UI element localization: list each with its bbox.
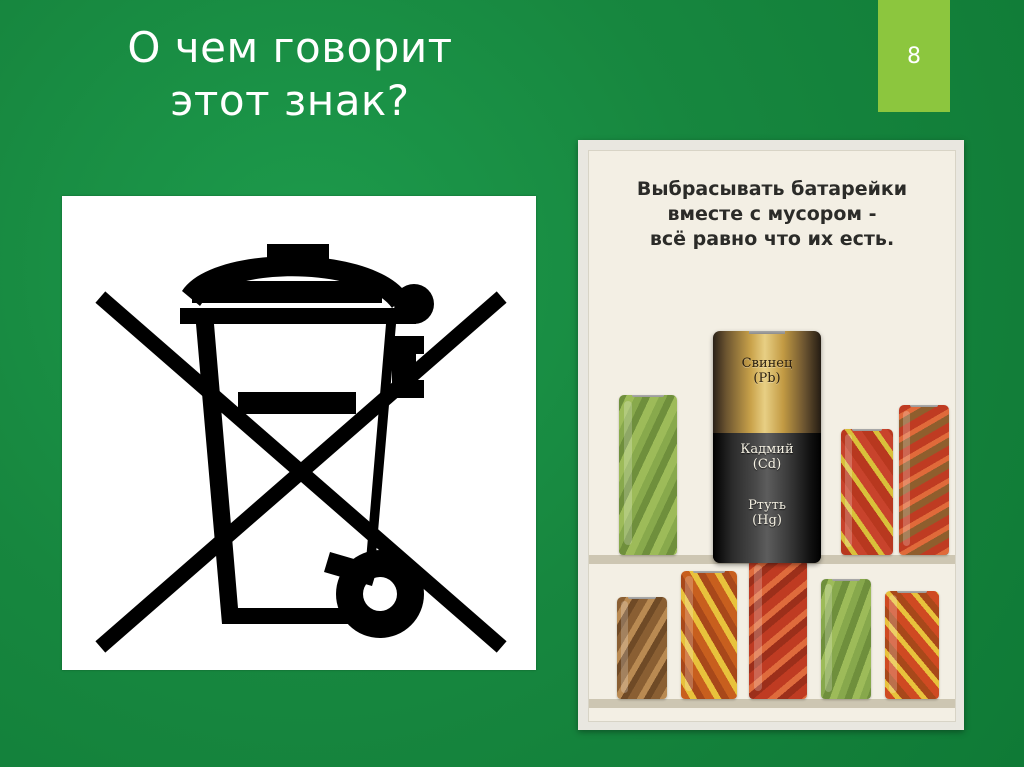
jar-mixed-vegetables-right2 (899, 405, 949, 555)
label-symbol: (Hg) (752, 513, 782, 528)
label-name: Кадмий (740, 442, 793, 457)
jar-lid (897, 591, 927, 593)
label-symbol: (Cd) (753, 457, 781, 472)
battery-label-cadmium: Кадмий (Cd) (713, 443, 821, 473)
jar-lid (832, 579, 860, 581)
jar-mushrooms-bottom-1 (617, 597, 667, 699)
jar-peppers-bottom-2 (681, 571, 737, 699)
label-name: Ртуть (748, 498, 786, 513)
page-title: О чем говорит этот знак? (40, 22, 540, 127)
jar-shine (889, 595, 897, 692)
jar-tomatoes-bottom-3 (749, 559, 807, 699)
jar-lid (632, 395, 664, 397)
weee-symbol-panel (62, 196, 536, 670)
jar-shine (754, 565, 762, 691)
jar-lid (693, 571, 724, 573)
battery-illustration: Свинец (Pb) Кадмий (Cd) Ртуть (Hg) (713, 331, 821, 563)
battery-cap (749, 331, 785, 334)
jar-tomatoes-peppers-right (841, 429, 893, 555)
jar-shine (825, 584, 832, 692)
poster-heading-line-3: всё равно что их есть. (589, 227, 955, 252)
poster-image: Выбрасывать батарейки вместе с мусором -… (588, 150, 956, 722)
jar-lid (910, 405, 938, 407)
shelf-lower (589, 699, 955, 708)
poster-heading: Выбрасывать батарейки вместе с мусором -… (589, 177, 955, 252)
poster-heading-line-2: вместе с мусором - (589, 202, 955, 227)
poster-frame: Выбрасывать батарейки вместе с мусором -… (578, 140, 964, 730)
jar-shine (685, 576, 693, 691)
jar-shine (621, 601, 628, 693)
title-line-2: этот знак? (40, 75, 540, 128)
label-name: Свинец (742, 356, 793, 371)
battery-label-lead: Свинец (Pb) (713, 357, 821, 387)
jar-lid (852, 429, 881, 431)
crossed-out-wheeled-bin-icon (62, 196, 536, 670)
jar-cucumbers-left (619, 395, 677, 555)
label-symbol: (Pb) (753, 371, 780, 386)
jar-peppers-bottom-5 (885, 591, 939, 699)
title-line-1: О чем говорит (40, 22, 540, 75)
jar-shine (845, 434, 852, 547)
jar-lid (628, 597, 656, 599)
jar-shine (624, 401, 632, 545)
battery-label-mercury: Ртуть (Hg) (713, 499, 821, 529)
page-number-badge: 8 (878, 0, 950, 112)
slide: О чем говорит этот знак? 8 (0, 0, 1024, 767)
jar-cucumbers-bottom-4 (821, 579, 871, 699)
poster-heading-line-1: Выбрасывать батарейки (589, 177, 955, 202)
jar-shine (903, 411, 910, 546)
